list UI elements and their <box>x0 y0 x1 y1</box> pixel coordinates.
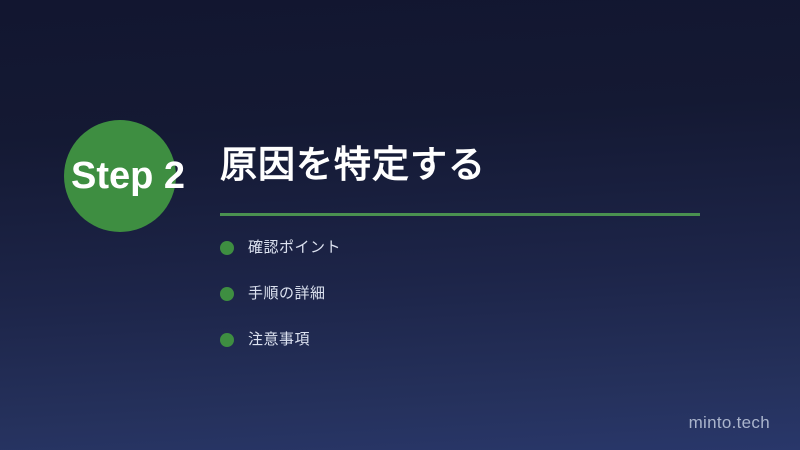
step-label: Step 2 <box>48 154 208 198</box>
list-item: 手順の詳細 <box>220 283 680 305</box>
title-block: 原因を特定する <box>220 140 720 190</box>
bullet-list: 確認ポイント 手順の詳細 注意事項 <box>220 237 680 375</box>
slide-canvas: Step 2 原因を特定する 確認ポイント 手順の詳細 注意事項 minto.t… <box>0 0 800 450</box>
slide-title: 原因を特定する <box>220 140 720 190</box>
bullet-item-label: 手順の詳細 <box>248 283 326 305</box>
bullet-dot-icon <box>220 333 234 347</box>
step-badge: Step 2 <box>64 120 176 232</box>
bullet-item-label: 確認ポイント <box>248 237 341 259</box>
bullet-dot-icon <box>220 287 234 301</box>
bullet-dot-icon <box>220 241 234 255</box>
list-item: 確認ポイント <box>220 237 680 259</box>
title-divider <box>220 213 700 216</box>
list-item: 注意事項 <box>220 329 680 351</box>
bullet-item-label: 注意事項 <box>248 329 310 351</box>
watermark: minto.tech <box>689 412 770 434</box>
